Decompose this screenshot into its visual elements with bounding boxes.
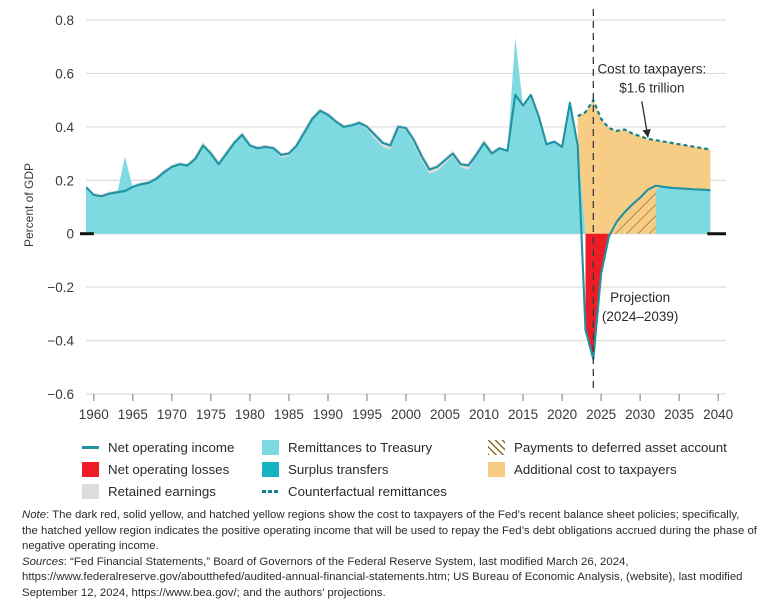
x-tick-label: 2040 bbox=[703, 407, 733, 422]
x-tick-label: 2020 bbox=[547, 407, 577, 422]
y-tick-label: 0.4 bbox=[55, 120, 74, 135]
legend-label: Remittances to Treasury bbox=[288, 440, 432, 455]
x-tick-label: 1985 bbox=[274, 407, 304, 422]
y-tick-label: −0.2 bbox=[47, 280, 74, 295]
legend-label: Additional cost to taxpayers bbox=[514, 462, 677, 477]
x-tick-label: 2030 bbox=[625, 407, 655, 422]
y-tick-label: 0.6 bbox=[55, 66, 74, 81]
legend-swatch-icon bbox=[82, 484, 99, 499]
legend-column-1: Net operating incomeNet operating losses… bbox=[82, 436, 234, 502]
legend-item[interactable]: Additional cost to taxpayers bbox=[488, 458, 727, 480]
x-tick-label: 1960 bbox=[79, 407, 109, 422]
chart-svg: −0.6−0.4−0.200.20.40.60.8 19601965197019… bbox=[0, 0, 768, 425]
y-tick-label: 0.8 bbox=[55, 13, 74, 28]
x-tick-label: 1990 bbox=[313, 407, 343, 422]
legend-swatch-icon bbox=[262, 440, 279, 455]
legend-swatch-icon bbox=[488, 440, 505, 455]
note-label: Note bbox=[22, 509, 46, 521]
x-tick-label: 1980 bbox=[235, 407, 265, 422]
x-tick-label: 1970 bbox=[157, 407, 187, 422]
y-tick-label: 0 bbox=[66, 227, 74, 242]
chart-legend: Net operating incomeNet operating losses… bbox=[0, 436, 768, 502]
x-tick-label: 2005 bbox=[430, 407, 460, 422]
x-axis-tick-marks bbox=[94, 394, 718, 401]
x-tick-label: 1975 bbox=[196, 407, 226, 422]
legend-swatch-icon bbox=[82, 462, 99, 477]
y-tick-label: 0.2 bbox=[55, 173, 74, 188]
sources-text: : “Fed Financial Statements,” Board of G… bbox=[22, 556, 743, 599]
sources-paragraph: Sources: “Fed Financial Statements,” Boa… bbox=[22, 555, 757, 602]
legend-item[interactable]: Net operating income bbox=[82, 436, 234, 458]
notes-block: Note: The dark red, solid yellow, and ha… bbox=[22, 508, 757, 602]
x-tick-label: 1995 bbox=[352, 407, 382, 422]
sources-label: Sources bbox=[22, 556, 64, 568]
x-tick-label: 2025 bbox=[586, 407, 616, 422]
x-tick-label: 1965 bbox=[118, 407, 148, 422]
x-tick-label: 2035 bbox=[664, 407, 694, 422]
annotation-cost-to-taxpayers-line2: $1.6 trillion bbox=[619, 80, 684, 95]
legend-item[interactable]: Counterfactual remittances bbox=[262, 480, 447, 502]
note-text: : The dark red, solid yellow, and hatche… bbox=[22, 509, 757, 552]
annotation-projection-line2: (2024–2039) bbox=[602, 309, 679, 324]
y-axis-tick-labels: −0.6−0.4−0.200.20.40.60.8 bbox=[47, 13, 74, 402]
x-tick-label: 2015 bbox=[508, 407, 538, 422]
legend-item[interactable]: Remittances to Treasury bbox=[262, 436, 447, 458]
legend-column-3: Payments to deferred asset accountAdditi… bbox=[488, 436, 727, 480]
legend-label: Counterfactual remittances bbox=[288, 484, 447, 499]
annotation-projection-line1: Projection bbox=[610, 290, 670, 305]
x-tick-label: 2010 bbox=[469, 407, 499, 422]
legend-label: Retained earnings bbox=[108, 484, 216, 499]
legend-label: Payments to deferred asset account bbox=[514, 440, 727, 455]
legend-label: Net operating losses bbox=[108, 462, 229, 477]
y-tick-label: −0.4 bbox=[47, 334, 74, 349]
legend-swatch-icon bbox=[488, 462, 505, 477]
chart-container: −0.6−0.4−0.200.20.40.60.8 19601965197019… bbox=[0, 0, 768, 425]
legend-swatch-icon bbox=[262, 462, 279, 477]
legend-item[interactable]: Payments to deferred asset account bbox=[488, 436, 727, 458]
legend-item[interactable]: Net operating losses bbox=[82, 458, 234, 480]
legend-item[interactable]: Retained earnings bbox=[82, 480, 234, 502]
legend-item[interactable]: Surplus transfers bbox=[262, 458, 447, 480]
legend-column-2: Remittances to TreasurySurplus transfers… bbox=[262, 436, 447, 502]
y-tick-label: −0.6 bbox=[47, 387, 74, 402]
y-axis-title: Percent of GDP bbox=[22, 163, 36, 247]
x-axis-tick-labels: 1960196519701975198019851990199520002005… bbox=[79, 407, 733, 422]
annotation-cost-to-taxpayers-line1: Cost to taxpayers: bbox=[597, 61, 706, 76]
annotation-arrow-head bbox=[643, 129, 651, 138]
legend-swatch-icon bbox=[262, 484, 279, 499]
legend-swatch-icon bbox=[82, 440, 99, 455]
legend-label: Surplus transfers bbox=[288, 462, 389, 477]
note-paragraph: Note: The dark red, solid yellow, and ha… bbox=[22, 508, 757, 555]
x-tick-label: 2000 bbox=[391, 407, 421, 422]
legend-label: Net operating income bbox=[108, 440, 234, 455]
